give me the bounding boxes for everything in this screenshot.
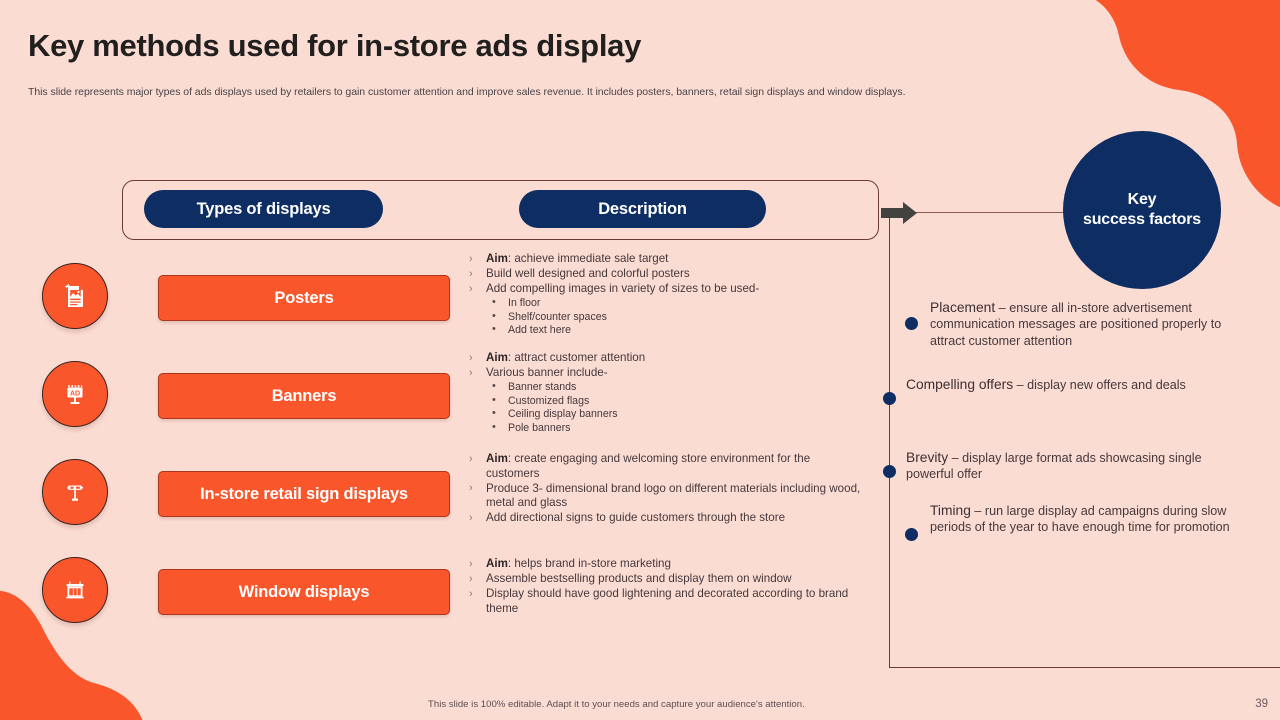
direction-sign-icon: [42, 459, 108, 525]
factor-body: – display new offers and deals: [1013, 378, 1186, 392]
bullet-line: ›Produce 3- dimensional brand logo on di…: [466, 482, 866, 511]
dot-icon: •: [492, 380, 496, 394]
chevron-icon: ›: [469, 452, 473, 467]
dot-icon: •: [492, 394, 496, 408]
bullet-dot-icon: [905, 528, 918, 541]
sub-bullet-line: •In floor: [466, 297, 866, 311]
poster-icon: [42, 263, 108, 329]
bullet-dot-icon: [883, 392, 896, 405]
factor-body: – run large display ad campaigns during …: [930, 504, 1230, 534]
method-button-posters[interactable]: Posters: [158, 275, 450, 321]
success-factor-placement: Placement – ensure all in-store advertis…: [905, 300, 1245, 349]
storefront-icon: [42, 557, 108, 623]
bullet-dot-icon: [905, 317, 918, 330]
key-circle-line1: Key: [1128, 190, 1157, 210]
bullet-lead: Aim: [486, 252, 508, 265]
sub-bullet-text: Customized flags: [508, 395, 589, 407]
footer-note: This slide is 100% editable. Adapt it to…: [428, 699, 805, 710]
dot-icon: •: [492, 310, 496, 324]
chevron-icon: ›: [469, 252, 473, 267]
page-title: Key methods used for in-store ads displa…: [28, 28, 641, 64]
bullet-line: ›Aim: create engaging and welcoming stor…: [466, 452, 866, 481]
connector-top-line: [915, 212, 1075, 213]
sub-bullet-text: Shelf/counter spaces: [508, 311, 607, 323]
key-circle-line2: success factors: [1083, 210, 1201, 230]
chevron-icon: ›: [469, 587, 473, 602]
success-factor-brevity: Brevity – display large format ads showc…: [883, 450, 1233, 483]
description-block-posters: ›Aim: achieve immediate sale target ›Bui…: [466, 252, 866, 338]
bullet-line: ›Various banner include-: [466, 366, 866, 381]
description-block-retail-sign-displays: ›Aim: create engaging and welcoming stor…: [466, 452, 866, 526]
bullet-lead: Aim: [486, 452, 508, 465]
bullet-text: Various banner include-: [486, 366, 608, 379]
sub-bullet-line: •Ceiling display banners: [466, 408, 866, 422]
sub-bullet-line: •Banner stands: [466, 381, 866, 395]
connector-bottom-line: [889, 667, 1280, 668]
chevron-icon: ›: [469, 511, 473, 526]
bullet-lead: Aim: [486, 557, 508, 570]
sub-bullet-line: •Shelf/counter spaces: [466, 311, 866, 325]
bullet-text: Add compelling images in variety of size…: [486, 282, 759, 295]
success-factor-timing: Timing – run large display ad campaigns …: [905, 503, 1245, 536]
sub-bullet-line: •Customized flags: [466, 395, 866, 409]
dot-icon: •: [492, 296, 496, 310]
method-button-banners[interactable]: Banners: [158, 373, 450, 419]
chevron-icon: ›: [469, 366, 473, 381]
bullet-text: : create engaging and welcoming store en…: [486, 452, 810, 480]
header-pill-description[interactable]: Description: [519, 190, 766, 228]
sub-bullet-text: Pole banners: [508, 422, 570, 434]
bullet-text: Assemble bestselling products and displa…: [486, 572, 791, 585]
bullet-line: ›Aim: attract customer attention: [466, 351, 866, 366]
sub-bullet-text: Ceiling display banners: [508, 408, 618, 420]
bullet-text: Add directional signs to guide customers…: [486, 511, 785, 524]
chevron-icon: ›: [469, 267, 473, 282]
svg-text:AD: AD: [70, 390, 80, 397]
bullet-line: ›Build well designed and colorful poster…: [466, 267, 866, 282]
slide-canvas: Key methods used for in-store ads displa…: [0, 0, 1280, 720]
bullet-line: ›Aim: helps brand in-store marketing: [466, 557, 866, 572]
factor-body: – display large format ads showcasing si…: [906, 451, 1202, 481]
page-subtitle: This slide represents major types of ads…: [28, 86, 905, 98]
factor-heading: Compelling offers: [906, 377, 1013, 392]
bullet-lead: Aim: [486, 351, 508, 364]
sub-bullet-line: •Pole banners: [466, 422, 866, 436]
description-block-window-displays: ›Aim: helps brand in-store marketing ›As…: [466, 557, 866, 617]
dot-icon: •: [492, 421, 496, 435]
sub-bullet-line: •Add text here: [466, 324, 866, 338]
chevron-icon: ›: [469, 481, 473, 496]
factor-heading: Timing: [930, 503, 971, 518]
bullet-line: ›Add directional signs to guide customer…: [466, 511, 866, 526]
bullet-text: : achieve immediate sale target: [508, 252, 668, 265]
bullet-text: Produce 3- dimensional brand logo on dif…: [486, 482, 860, 510]
chevron-icon: ›: [469, 351, 473, 366]
factor-heading: Placement: [930, 300, 995, 315]
sub-bullet-text: Banner stands: [508, 381, 576, 393]
header-pill-types[interactable]: Types of displays: [144, 190, 383, 228]
bullet-text: Build well designed and colorful posters: [486, 267, 690, 280]
bullet-text: : attract customer attention: [508, 351, 645, 364]
bullet-line: ›Aim: achieve immediate sale target: [466, 252, 866, 267]
bullet-line: ›Add compelling images in variety of siz…: [466, 282, 866, 297]
success-factor-compelling-offers: Compelling offers – display new offers a…: [883, 377, 1223, 393]
page-number: 39: [1255, 698, 1268, 710]
chevron-icon: ›: [469, 572, 473, 587]
chevron-icon: ›: [469, 282, 473, 297]
sub-bullet-text: In floor: [508, 297, 540, 309]
key-success-factors-circle: Key success factors: [1063, 131, 1221, 289]
arrow-right-icon: [881, 202, 917, 224]
method-button-window-displays[interactable]: Window displays: [158, 569, 450, 615]
dot-icon: •: [492, 323, 496, 337]
ad-billboard-icon: AD: [42, 361, 108, 427]
bullet-text: : helps brand in-store marketing: [508, 557, 671, 570]
connector-vertical-line: [889, 209, 890, 668]
dot-icon: •: [492, 407, 496, 421]
factor-heading: Brevity: [906, 450, 948, 465]
bullet-dot-icon: [883, 465, 896, 478]
sub-bullet-text: Add text here: [508, 324, 571, 336]
chevron-icon: ›: [469, 557, 473, 572]
description-block-banners: ›Aim: attract customer attention ›Variou…: [466, 351, 866, 436]
method-button-retail-sign-displays[interactable]: In-store retail sign displays: [158, 471, 450, 517]
bullet-line: ›Assemble bestselling products and displ…: [466, 572, 866, 587]
bullet-line: ›Display should have good lightening and…: [466, 587, 866, 616]
bullet-text: Display should have good lightening and …: [486, 587, 848, 615]
